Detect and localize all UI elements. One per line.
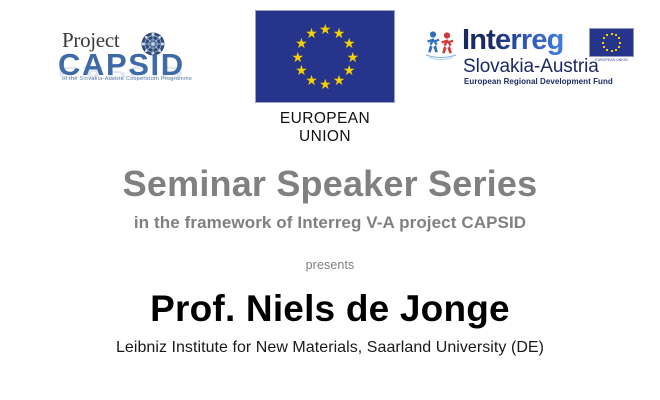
mini-eu-star-icon xyxy=(611,33,613,35)
mini-eu-star-icon xyxy=(606,34,608,36)
mini-eu-star-icon xyxy=(603,37,605,39)
mini-eu-star-icon xyxy=(603,46,605,48)
interreg-region-label: Slovakia-Austria xyxy=(463,57,599,76)
eu-flag-icon: ★★★★★★★★★★★★ xyxy=(255,10,395,103)
presents-label: presents xyxy=(0,258,660,272)
interreg-wordmark: Interreg xyxy=(462,26,564,55)
interreg-fund-label: European Regional Development Fund xyxy=(464,78,613,86)
interreg-eu-flag-badge: EUROPEAN UNION xyxy=(589,28,634,66)
capsid-project-logo: CAPSID Project xyxy=(52,30,212,108)
speaker-name: Prof. Niels de Jonge xyxy=(0,289,660,330)
mini-eu-star-icon xyxy=(615,34,617,36)
mini-eu-caption: EUROPEAN UNION xyxy=(589,58,634,62)
mini-eu-star-icon xyxy=(615,49,617,51)
page-subtitle: in the framework of Interreg V-A project… xyxy=(0,213,660,233)
mini-eu-star-icon xyxy=(618,37,620,39)
mini-eu-star-icon xyxy=(619,42,621,44)
seminar-announcement: Seminar Speaker Series in the framework … xyxy=(0,135,660,357)
page-title: Seminar Speaker Series xyxy=(0,164,660,204)
logo-bar: CAPSID Project xyxy=(0,0,660,135)
mini-eu-flag-icon xyxy=(589,28,634,57)
interreg-logo: Interreg Slovakia-Austria European Regio… xyxy=(424,26,634,90)
mini-eu-star-icon xyxy=(611,50,613,52)
mini-eu-star-icon xyxy=(602,42,604,44)
speaker-affiliation: Leibniz Institute for New Materials, Saa… xyxy=(0,339,660,357)
mini-eu-star-icon xyxy=(606,49,608,51)
mini-eu-star-icon xyxy=(618,46,620,48)
two-people-icon xyxy=(424,28,458,60)
european-union-logo: ★★★★★★★★★★★★ EUROPEAN UNION xyxy=(255,10,403,146)
capsid-tagline: of the Slovakia-Austria Cooperation Prog… xyxy=(62,76,192,82)
